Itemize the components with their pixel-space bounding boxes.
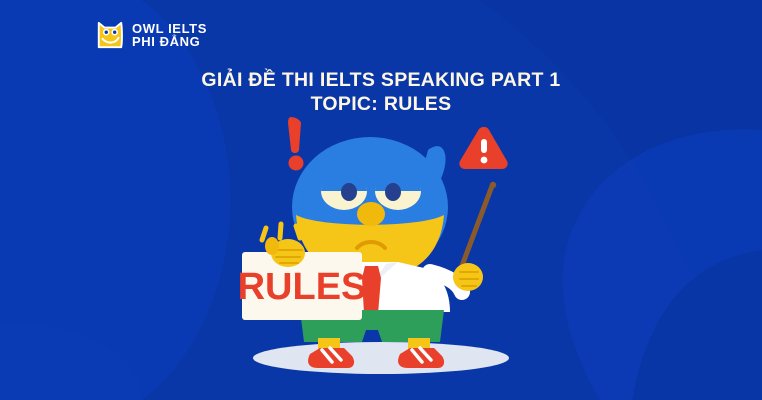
- illustration: RULES: [0, 0, 762, 400]
- banner: OWL IELTS PHI ĐẲNG GIẢI ĐỀ THI IELTS SPE…: [0, 0, 762, 400]
- rules-sign-label: RULES: [238, 266, 367, 308]
- pointer-stick: [460, 182, 496, 271]
- exclamation-mark: [288, 117, 304, 171]
- warning-triangle-icon: [459, 127, 507, 169]
- motion-lines: [262, 224, 300, 240]
- ground-shadow-ellipse: [253, 342, 509, 374]
- rules-sign: RULES: [238, 252, 367, 320]
